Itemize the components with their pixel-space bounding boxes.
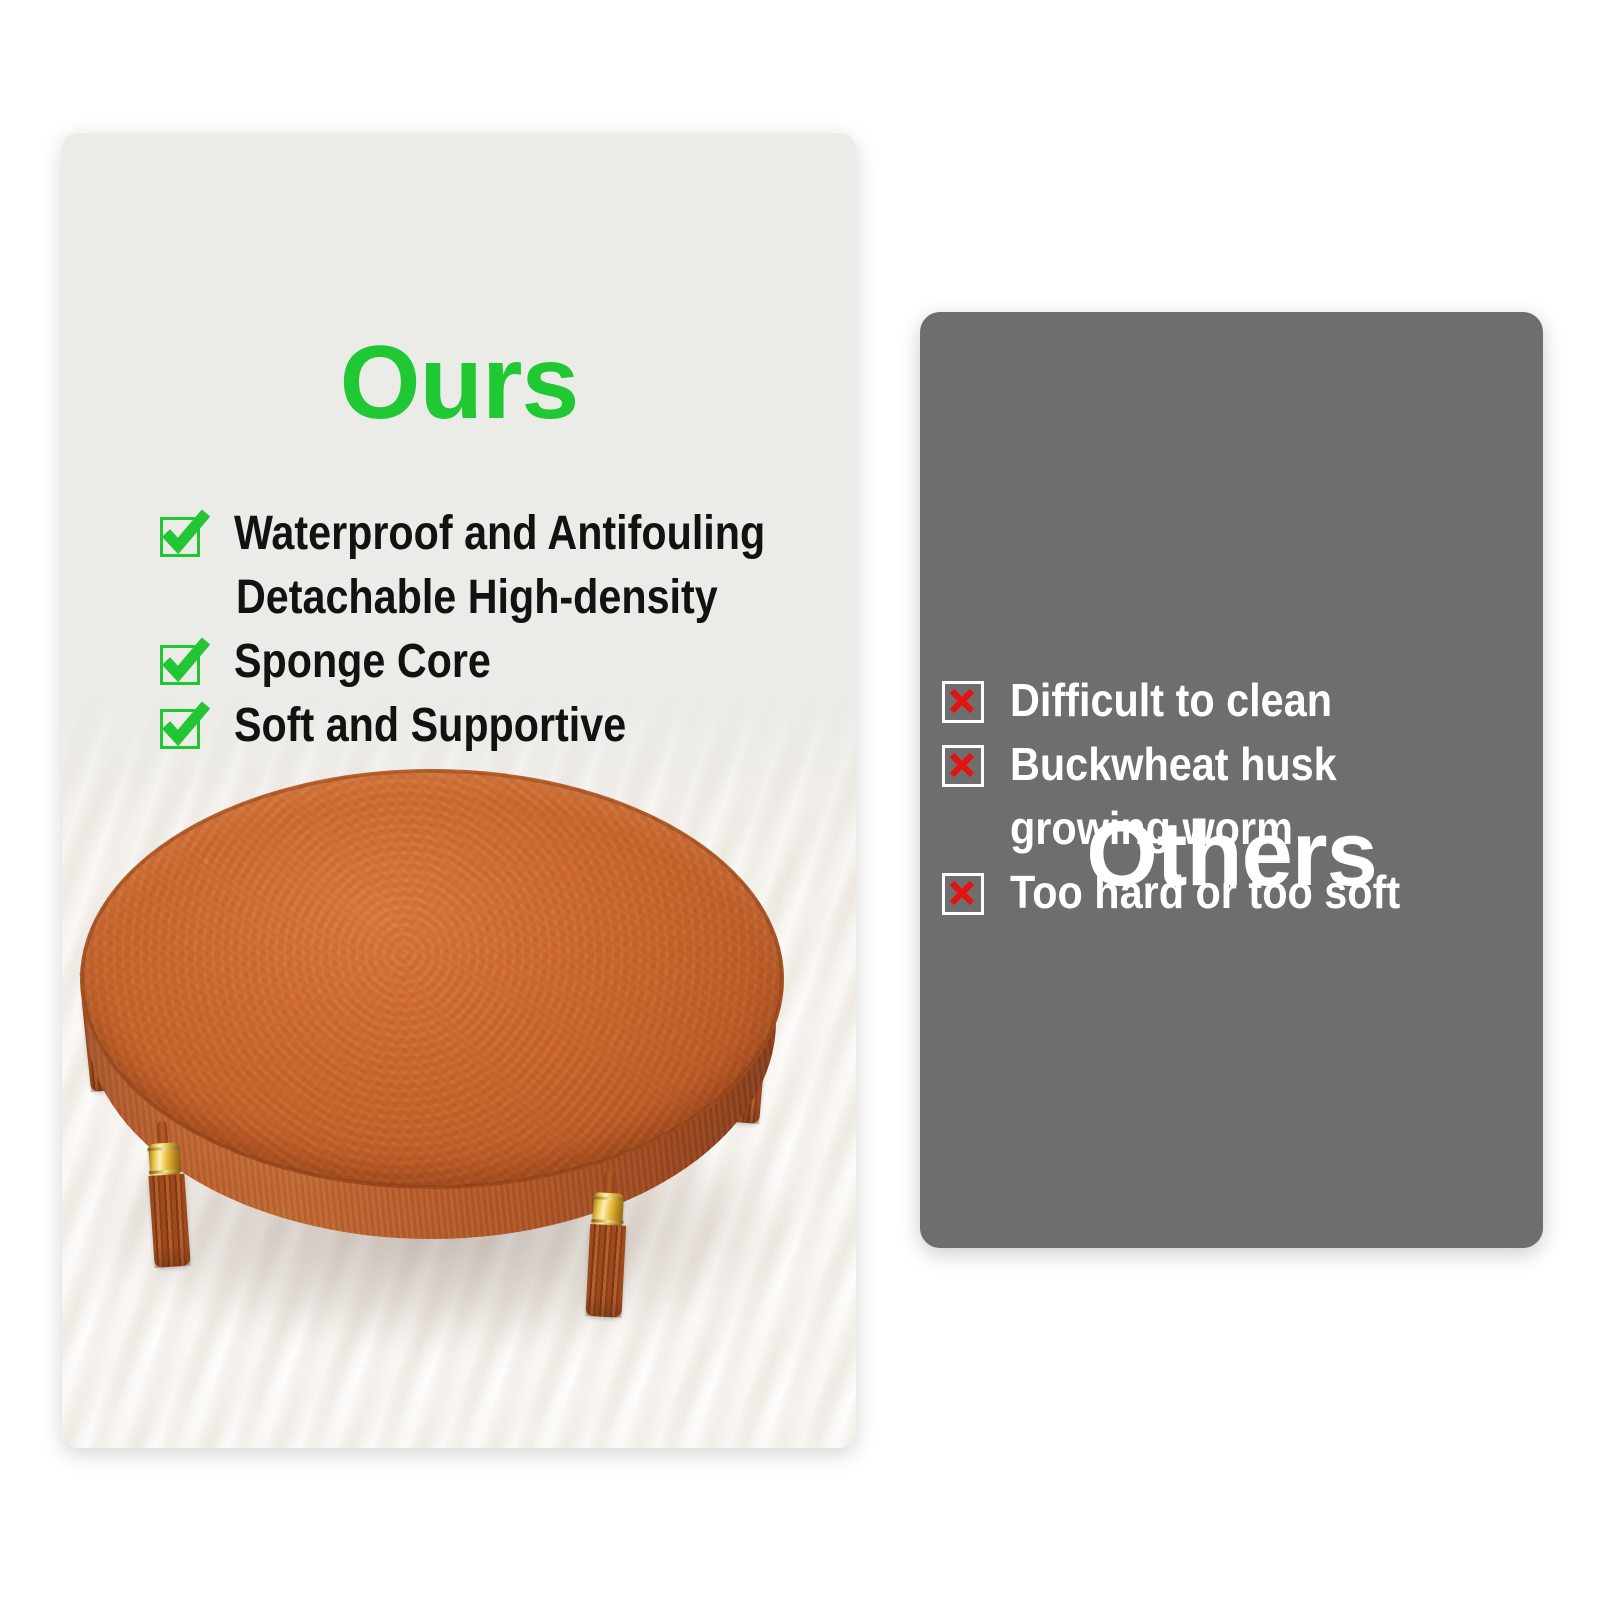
list-item-label: Sponge Core: [234, 633, 491, 689]
list-item: Soft and Supportive: [158, 697, 856, 755]
list-item-label: Too hard or too soft: [1010, 866, 1400, 919]
leather-cushion: [80, 769, 784, 1369]
cross-box-icon: [942, 681, 984, 723]
cross-box-icon: [942, 873, 984, 915]
ours-title: Ours: [62, 331, 856, 435]
check-box-icon: [158, 639, 206, 687]
ours-panel: Ours Waterproof and Antifouling Detachab…: [62, 133, 856, 1448]
cushion-top-rim: [80, 769, 784, 1189]
list-item: growing worm: [942, 802, 1542, 858]
list-item-label: Waterproof and Antifouling: [234, 505, 765, 561]
check-box-icon: [158, 703, 206, 751]
list-item: Buckwheat husk: [942, 738, 1542, 794]
list-item: Sponge Core: [158, 633, 856, 691]
cushion-top-surface: [80, 769, 784, 1189]
list-item-label: Difficult to clean: [1010, 674, 1332, 727]
list-item: Detachable High-density: [158, 569, 856, 627]
others-drawback-list: Difficult to clean Buckwheat husk growin…: [942, 674, 1542, 930]
check-box-icon: [158, 511, 206, 559]
others-panel: Others Difficult to clean Buckwheat husk…: [920, 312, 1543, 1248]
list-item-label: Buckwheat husk: [1010, 738, 1337, 791]
list-item: Difficult to clean: [942, 674, 1542, 730]
comparison-infographic: Ours Waterproof and Antifouling Detachab…: [0, 0, 1600, 1600]
product-photo: [62, 693, 856, 1448]
list-item: Too hard or too soft: [942, 866, 1542, 922]
list-item-label: Detachable High-density: [236, 569, 718, 625]
list-item-label: growing worm: [1010, 802, 1293, 855]
ours-feature-list: Waterproof and Antifouling Detachable Hi…: [158, 505, 856, 761]
list-item: Waterproof and Antifouling: [158, 505, 856, 563]
cross-box-icon: [942, 745, 984, 787]
list-item-label: Soft and Supportive: [234, 697, 626, 753]
